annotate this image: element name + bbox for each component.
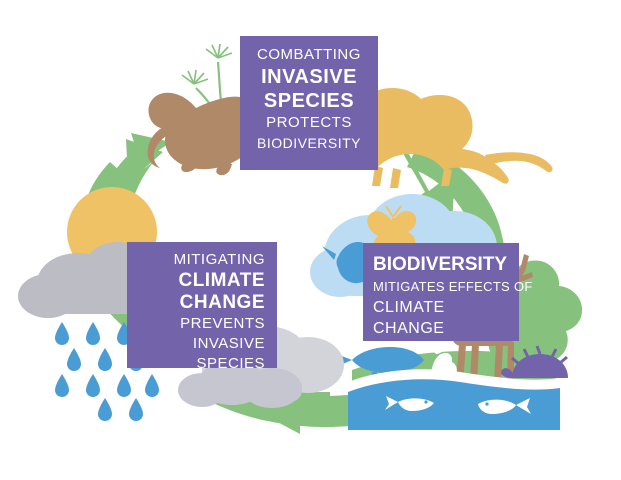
biodiversity-mitigates-box: BIODIVERSITY MITIGATES EFFECTS OF CLIMAT… [363,243,519,341]
box-left-line-5: INVASIVE [139,334,265,354]
box-top-line-2: INVASIVE [250,65,368,89]
box-top-line-5: BIODIVERSITY [250,133,368,153]
box-left-line-6: SPECIES [139,354,265,374]
box-top-line-1: COMBATTING [250,45,368,65]
box-top-line-4: PROTECTS [250,113,368,133]
box-left-line-4: PREVENTS [139,314,265,334]
box-right-line-3: CLIMATE [373,297,511,318]
box-left-line-3: CHANGE [139,292,265,314]
box-right-line-2: MITIGATES EFFECTS OF [373,276,511,297]
box-right-line-1: BIODIVERSITY [373,253,511,276]
box-left-line-2: CLIMATE [139,270,265,292]
combatting-invasive-species-box: COMBATTING INVASIVE SPECIES PROTECTS BIO… [240,36,378,170]
box-right-line-4: CHANGE [373,318,511,339]
box-left-line-1: MITIGATING [139,250,265,270]
mitigating-climate-change-box: MITIGATING CLIMATE CHANGE PREVENTS INVAS… [127,242,277,368]
infographic-canvas: COMBATTING INVASIVE SPECIES PROTECTS BIO… [0,0,621,480]
box-top-line-3: SPECIES [250,89,368,113]
